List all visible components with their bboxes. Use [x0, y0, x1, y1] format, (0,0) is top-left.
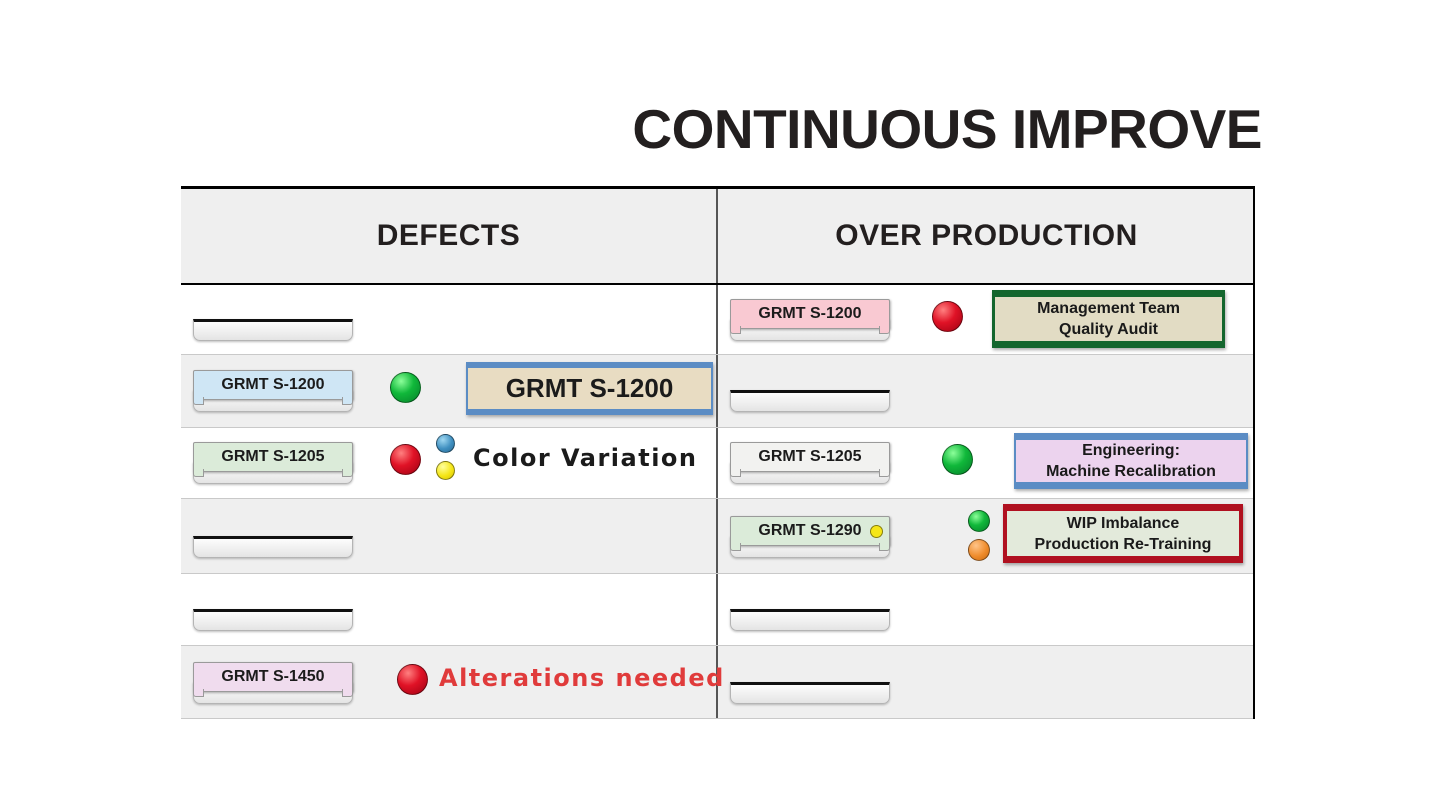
- ticket-mini-dot-yellow[interactable]: [870, 525, 883, 538]
- action-plaque[interactable]: Engineering: Machine Recalibration: [1014, 433, 1248, 489]
- page-title: CONTINUOUS IMPROVE: [0, 96, 1262, 162]
- status-dot-red[interactable]: [932, 301, 963, 332]
- empty-card-slot[interactable]: [193, 536, 353, 558]
- plaque-line-2: Machine Recalibration: [1046, 461, 1216, 482]
- ticket-label: GRMT S-1290: [758, 522, 861, 540]
- ticket-label: GRMT S-1200: [758, 305, 861, 323]
- row-1-defects-cell: [181, 285, 718, 354]
- row-5-defects-cell: [181, 574, 718, 645]
- status-dot-green[interactable]: [968, 510, 990, 532]
- ticket-card[interactable]: GRMT S-1205: [730, 442, 890, 472]
- improvement-grid: DEFECTS OVER PRODUCTION GRMT S-1200 Mana…: [181, 186, 1255, 719]
- ticket-card[interactable]: GRMT S-1290: [730, 516, 890, 546]
- row-6-defects-cell: GRMT S-1450 Alterations needed: [181, 646, 718, 718]
- plaque-line-2: Production Re-Training: [1035, 534, 1212, 555]
- status-dot-green[interactable]: [390, 372, 421, 403]
- table-row: GRMT S-1290 WIP Imbalance Production Re-…: [181, 499, 1253, 574]
- row-3-overproduction-cell: GRMT S-1205 Engineering: Machine Recalib…: [718, 428, 1255, 498]
- handwritten-note: Color Variation: [473, 444, 698, 472]
- row-1-overproduction-cell: GRMT S-1200 Management Team Quality Audi…: [718, 285, 1255, 354]
- status-dot-orange[interactable]: [968, 539, 990, 561]
- empty-card-slot[interactable]: [193, 609, 353, 631]
- column-header-over-production: OVER PRODUCTION: [718, 189, 1255, 283]
- status-dot-red[interactable]: [390, 444, 421, 475]
- ticket-label: GRMT S-1205: [758, 448, 861, 466]
- plaque-line-1: Engineering:: [1082, 440, 1180, 461]
- plaque-line-1: Management Team: [1037, 298, 1180, 319]
- row-6-overproduction-cell: [718, 646, 1255, 718]
- empty-card-slot[interactable]: [730, 609, 890, 631]
- row-2-overproduction-cell: [718, 355, 1255, 427]
- action-plaque[interactable]: Management Team Quality Audit: [992, 290, 1225, 348]
- status-dot-green[interactable]: [942, 444, 973, 475]
- highlight-card[interactable]: GRMT S-1200: [466, 362, 713, 415]
- row-3-defects-cell: GRMT S-1205 Color Variation: [181, 428, 718, 498]
- row-2-defects-cell: GRMT S-1200 GRMT S-1200: [181, 355, 718, 427]
- status-dot-blue[interactable]: [436, 434, 455, 453]
- table-row: GRMT S-1450 Alterations needed: [181, 646, 1253, 719]
- plaque-line-1: WIP Imbalance: [1067, 513, 1180, 534]
- row-4-overproduction-cell: GRMT S-1290 WIP Imbalance Production Re-…: [718, 499, 1255, 573]
- column-header-defects: DEFECTS: [181, 189, 718, 283]
- ticket-label: GRMT S-1200: [221, 376, 324, 394]
- highlight-card-label: GRMT S-1200: [506, 373, 674, 404]
- row-5-overproduction-cell: [718, 574, 1255, 645]
- grid-header-row: DEFECTS OVER PRODUCTION: [181, 189, 1253, 285]
- table-row: [181, 574, 1253, 646]
- table-row: GRMT S-1200 GRMT S-1200: [181, 355, 1253, 428]
- ticket-card[interactable]: GRMT S-1205: [193, 442, 353, 472]
- row-4-defects-cell: [181, 499, 718, 573]
- handwritten-note: Alterations needed: [439, 664, 725, 692]
- empty-card-slot[interactable]: [730, 390, 890, 412]
- action-plaque[interactable]: WIP Imbalance Production Re-Training: [1003, 504, 1243, 563]
- empty-card-slot[interactable]: [730, 682, 890, 704]
- plaque-line-2: Quality Audit: [1059, 319, 1158, 340]
- ticket-card[interactable]: GRMT S-1450: [193, 662, 353, 692]
- ticket-label: GRMT S-1205: [221, 448, 324, 466]
- status-dot-red[interactable]: [397, 664, 428, 695]
- ticket-label: GRMT S-1450: [221, 668, 324, 686]
- status-dot-yellow[interactable]: [436, 461, 455, 480]
- empty-card-slot[interactable]: [193, 319, 353, 341]
- continuous-improvement-board: CONTINUOUS IMPROVE DEFECTS OVER PRODUCTI…: [0, 0, 1263, 810]
- table-row: GRMT S-1205 Color Variation GRMT S-1205 …: [181, 428, 1253, 499]
- ticket-card[interactable]: GRMT S-1200: [730, 299, 890, 329]
- table-row: GRMT S-1200 Management Team Quality Audi…: [181, 285, 1253, 355]
- ticket-card[interactable]: GRMT S-1200: [193, 370, 353, 400]
